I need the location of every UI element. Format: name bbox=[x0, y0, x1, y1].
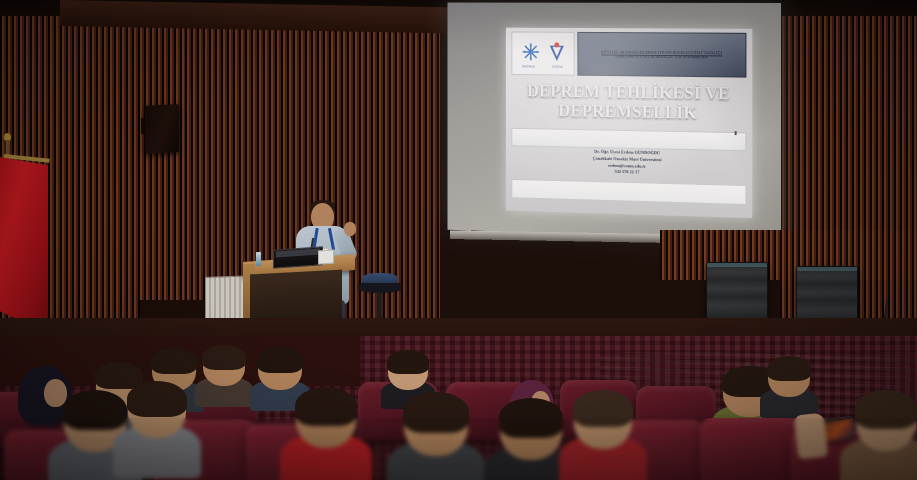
person-c-glasses bbox=[203, 347, 245, 395]
audience-hand bbox=[794, 413, 828, 460]
person-c-glasses-hair bbox=[202, 345, 246, 370]
person-o-phone-hair bbox=[855, 390, 917, 429]
projection-screen: ERZURUM TÜBİTAK KENTSEL ARAMA KURTARMA S… bbox=[448, 3, 781, 241]
person-b-hair bbox=[151, 348, 197, 374]
person-k-red bbox=[296, 389, 356, 459]
person-j-beard bbox=[128, 383, 186, 449]
person-m-hair bbox=[499, 398, 563, 438]
tubitak-logo bbox=[547, 41, 566, 62]
seat-front-4 bbox=[700, 418, 800, 480]
person-e-ponytail bbox=[388, 352, 428, 398]
person-m bbox=[500, 400, 562, 472]
right-wall-upper-slats bbox=[660, 230, 917, 280]
person-l-hair bbox=[403, 392, 469, 433]
person-h-hair bbox=[767, 356, 811, 381]
chair-highlight bbox=[797, 267, 857, 271]
slide-white-band-lower bbox=[511, 179, 746, 205]
slide-logo-box: ERZURUM TÜBİTAK bbox=[511, 32, 574, 76]
slide-logo-captions: ERZURUM TÜBİTAK bbox=[516, 65, 569, 68]
person-n-bald bbox=[574, 392, 632, 460]
person-e-ponytail-hair bbox=[387, 350, 429, 374]
chair-highlight bbox=[707, 263, 767, 267]
person-j-beard-hair bbox=[127, 381, 187, 417]
wall-loudspeaker bbox=[145, 104, 179, 154]
logo-caption-tubitak: TÜBİTAK bbox=[545, 65, 569, 68]
slide-title: DEPREM TEHLİKESİ VE DEPREMSELLİK bbox=[513, 82, 744, 124]
person-n-bald-hair bbox=[573, 390, 633, 427]
person-l bbox=[404, 394, 468, 468]
slide-title-line1: DEPREM TEHLİKESİ VE bbox=[513, 82, 744, 104]
person-d-hair bbox=[257, 347, 303, 373]
slide-title-line2: DEPREMSELLİK bbox=[513, 101, 744, 124]
slide-logo-header-row: ERZURUM TÜBİTAK KENTSEL ARAMA KURTARMA S… bbox=[511, 32, 746, 78]
slide-header-bar: KENTSEL ARAMA KURTARMA STRATEJİLERİ EĞİT… bbox=[577, 32, 746, 78]
logo-caption-erzurum: ERZURUM bbox=[516, 65, 540, 68]
person-k-red-hair bbox=[295, 387, 357, 426]
presenter-hand bbox=[344, 222, 356, 236]
person-i-hair bbox=[63, 390, 127, 430]
executive-chair-left bbox=[706, 262, 768, 320]
person-h bbox=[768, 358, 810, 406]
water-bottle bbox=[256, 252, 261, 266]
auditorium-photo: ERZURUM TÜBİTAK KENTSEL ARAMA KURTARMA S… bbox=[0, 0, 917, 480]
erzurum-teknik-universitesi-logo bbox=[520, 41, 540, 62]
slide-header-line2: 1129B372400718 TÜBİTAK-BİDEB 2237-A 28-2… bbox=[615, 54, 707, 59]
presentation-slide: ERZURUM TÜBİTAK KENTSEL ARAMA KURTARMA S… bbox=[506, 28, 752, 218]
person-o-phone bbox=[856, 392, 916, 462]
slide-presenter-block: Dr. Öğr. Üyesi Erdem GÜNDOĞDU Çanakkale … bbox=[511, 147, 746, 179]
smartphone-screen bbox=[822, 419, 854, 441]
turkish-flag bbox=[0, 157, 48, 323]
executive-chair-right bbox=[796, 266, 858, 324]
mouse-cursor-icon bbox=[735, 131, 737, 135]
lectern-name-card bbox=[318, 249, 334, 264]
slide-logo-marks bbox=[520, 39, 566, 65]
